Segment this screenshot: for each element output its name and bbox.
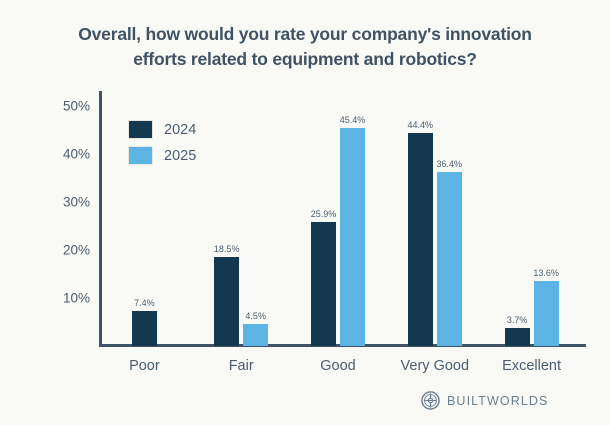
bar-value-label: 13.6% [533, 268, 559, 278]
bar-rect [214, 257, 239, 346]
bar-value-label: 3.7% [507, 315, 528, 325]
brand-name: BUILTWORLDS [447, 394, 548, 408]
bar-value-label: 25.9% [311, 209, 337, 219]
bar-good-2024[interactable]: 25.9% [311, 222, 336, 346]
bar-rect [534, 281, 559, 346]
bar-rect [340, 128, 365, 346]
bar-very-good-2024[interactable]: 44.4% [408, 133, 433, 346]
builtworlds-emblem-icon [421, 391, 440, 410]
bar-rect [505, 328, 530, 346]
x-axis-label-good: Good [320, 358, 355, 374]
bar-good-2025[interactable]: 45.4% [340, 128, 365, 346]
brand-footer: BUILTWORLDS [421, 391, 548, 410]
x-axis-label-very-good: Very Good [401, 358, 470, 374]
y-axis-tick-50: 50% [46, 99, 90, 114]
bar-rect [311, 222, 336, 346]
bar-value-label: 44.4% [408, 120, 434, 130]
bar-value-label: 36.4% [437, 159, 463, 169]
x-axis-label-poor: Poor [129, 358, 160, 374]
y-axis-tick-10: 10% [46, 291, 90, 306]
y-axis-tick-30: 30% [46, 195, 90, 210]
x-axis-label-fair: Fair [229, 358, 254, 374]
bar-excellent-2024[interactable]: 3.7% [505, 328, 530, 346]
bar-rect [243, 324, 268, 346]
bar-fair-2025[interactable]: 4.5% [243, 324, 268, 346]
chart-card: Overall, how would you rate your company… [0, 0, 610, 425]
bar-rect [437, 172, 462, 346]
bar-poor-2024[interactable]: 7.4% [132, 311, 157, 346]
bar-rect [408, 133, 433, 346]
x-axis-category-labels: PoorFairGoodVery GoodExcellent [102, 358, 586, 378]
bar-value-label: 45.4% [340, 115, 366, 125]
bar-rect [132, 311, 157, 346]
bar-value-label: 7.4% [134, 298, 155, 308]
bar-value-label: 18.5% [214, 244, 240, 254]
x-axis-label-excellent: Excellent [502, 358, 561, 374]
y-axis-tick-20: 20% [46, 243, 90, 258]
bar-excellent-2025[interactable]: 13.6% [534, 281, 559, 346]
bar-very-good-2025[interactable]: 36.4% [437, 172, 462, 346]
bar-groups: 7.4%18.5%4.5%25.9%45.4%44.4%36.4%3.7%13.… [102, 92, 586, 346]
bar-fair-2024[interactable]: 18.5% [214, 257, 239, 346]
bar-value-label: 4.5% [245, 311, 266, 321]
y-axis-tick-40: 40% [46, 147, 90, 162]
